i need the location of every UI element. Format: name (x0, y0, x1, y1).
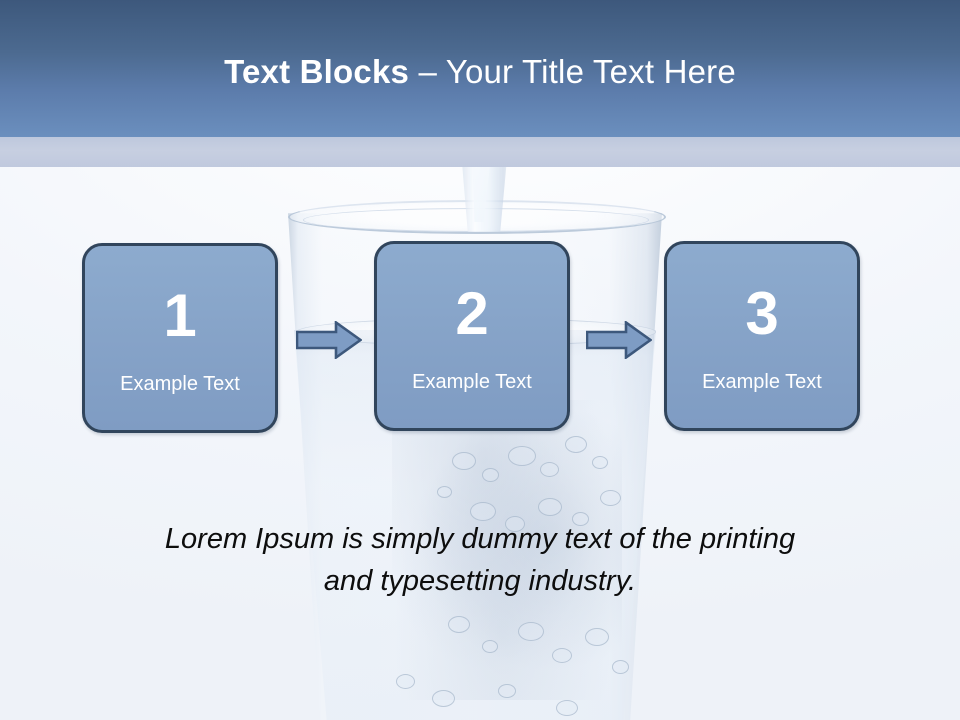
step-box-1[interactable]: 1 Example Text (82, 243, 278, 433)
step-label-2: Example Text (412, 370, 532, 394)
arrow-right-icon (586, 321, 652, 359)
bubble (437, 486, 452, 498)
bubble (612, 660, 629, 674)
bubble (540, 462, 559, 477)
page-title-light: Your Title Text Here (446, 53, 736, 90)
page-title: Text Blocks – Your Title Text Here (0, 52, 960, 92)
bubble (448, 616, 470, 633)
step-label-1: Example Text (120, 372, 240, 396)
bubble (552, 648, 572, 663)
caption-text: Lorem Ipsum is simply dummy text of the … (80, 518, 880, 602)
page-title-bold: Text Blocks (224, 53, 418, 90)
bubble (482, 640, 498, 653)
step-box-3[interactable]: 3 Example Text (664, 241, 860, 431)
step-box-2[interactable]: 2 Example Text (374, 241, 570, 431)
bubble (452, 452, 476, 470)
step-number-3: 3 (745, 284, 778, 344)
arrow-step-1-to-2 (296, 321, 362, 359)
bubble (556, 700, 578, 716)
step-label-3: Example Text (702, 370, 822, 394)
bubble (538, 498, 562, 516)
bubble (508, 446, 536, 466)
arrow-right-icon (296, 321, 362, 359)
bubble (565, 436, 587, 453)
bubble (482, 468, 499, 482)
bubble (592, 456, 608, 469)
caption-line-2: and typesetting industry. (80, 560, 880, 602)
bubble (585, 628, 609, 646)
page-title-separator: – (418, 53, 445, 90)
step-number-1: 1 (163, 286, 196, 346)
caption-line-1: Lorem Ipsum is simply dummy text of the … (80, 518, 880, 560)
step-number-2: 2 (455, 284, 488, 344)
arrow-step-2-to-3 (586, 321, 652, 359)
bubble (396, 674, 415, 689)
bubble (498, 684, 516, 698)
bubble (518, 622, 544, 641)
bubble (600, 490, 621, 506)
bubble (432, 690, 455, 707)
header-accent-strip (0, 137, 960, 167)
slide-canvas: Text Blocks – Your Title Text Here 1 Exa… (0, 0, 960, 720)
